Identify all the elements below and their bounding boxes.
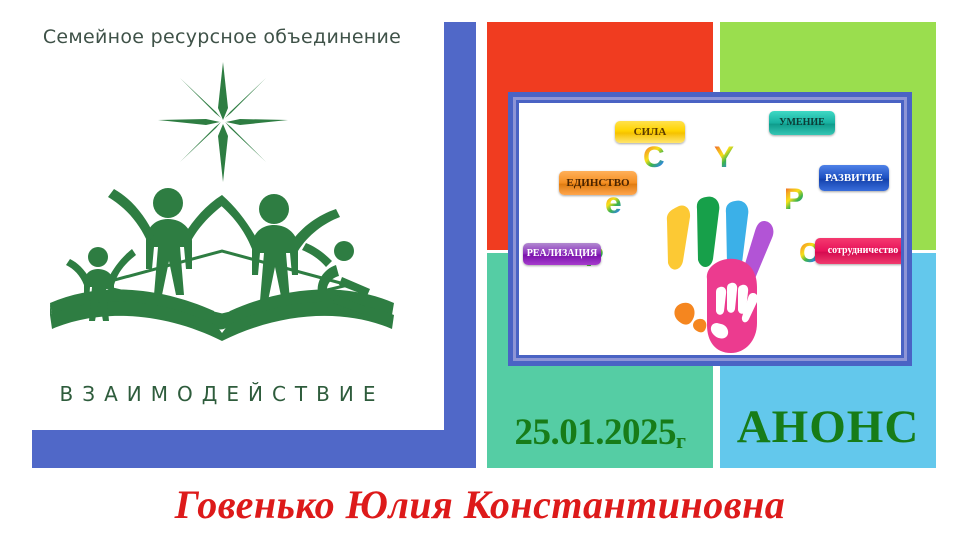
left-logo-panel: Семейное ресурсное объединение: [0, 0, 480, 470]
logo-card: Семейное ресурсное объединение: [0, 0, 444, 430]
rainbow-letter-y: Y: [714, 143, 734, 173]
event-date-suffix: г: [676, 428, 686, 454]
star-icon: [158, 62, 288, 182]
people-and-book-icon: [36, 165, 408, 365]
picture-label-sotrudnichestvo: сотрудничество: [815, 238, 901, 264]
picture-frame-border-outer: C Y e P P C: [513, 97, 907, 361]
rainbow-letter-p-right: P: [784, 185, 804, 215]
event-date-value: 25.01.2025: [515, 411, 677, 454]
author-name: Говенько Юлия Константиновна: [0, 468, 960, 540]
logo-keyword: ВЗАИМОДЕЙСТВИЕ: [0, 382, 444, 406]
picture-frame-border-inner: C Y e P P C: [516, 100, 904, 358]
picture-label-realizaciya: РЕАЛИЗАЦИЯ: [523, 243, 601, 265]
colorful-handprint-icon: [661, 195, 781, 355]
blue-accent-bar-horizontal: [32, 428, 462, 468]
picture-label-edinstvo: ЕДИНСТВО: [559, 171, 637, 195]
picture-label-razvitie: РАЗВИТИЕ: [819, 165, 889, 191]
rainbow-letter-c: C: [643, 143, 665, 173]
picture-label-umenie: УМЕНИЕ: [769, 111, 835, 135]
framed-picture: C Y e P P C: [508, 92, 912, 366]
organization-title: Семейное ресурсное объединение: [0, 26, 444, 48]
picture-canvas: C Y e P P C: [519, 103, 901, 355]
picture-label-sila: СИЛА: [615, 121, 685, 143]
slide-root: Семейное ресурсное объединение: [0, 0, 960, 540]
